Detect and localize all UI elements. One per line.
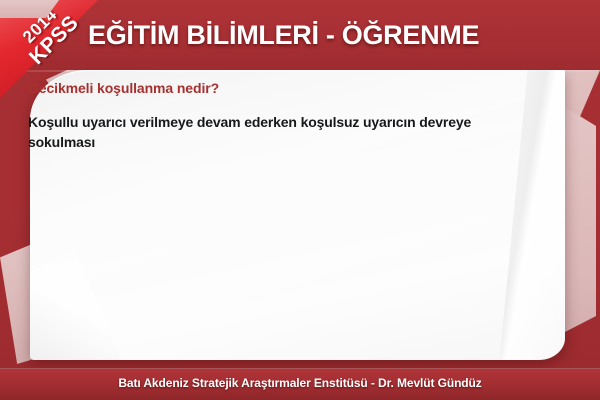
card-fold-crease-bottom-left	[30, 248, 122, 360]
footer-bar: Batı Akdeniz Stratejik Araştırmaler Enst…	[0, 368, 600, 400]
card-content: Gecikmeli koşullanma nedir? Koşullu uyar…	[28, 78, 498, 152]
page-title: EĞİTİM BİLİMLERİ - ÖĞRENME	[88, 18, 558, 52]
slide-root: Gecikmeli koşullanma nedir? Koşullu uyar…	[0, 0, 600, 400]
footer-attribution: Batı Akdeniz Stratejik Araştırmaler Enst…	[0, 376, 600, 390]
question-text: Gecikmeli koşullanma nedir?	[28, 78, 498, 98]
answer-text: Koşullu uyarıcı verilmeye devam ederken …	[28, 112, 498, 152]
card-fold-crease-right	[487, 70, 565, 360]
